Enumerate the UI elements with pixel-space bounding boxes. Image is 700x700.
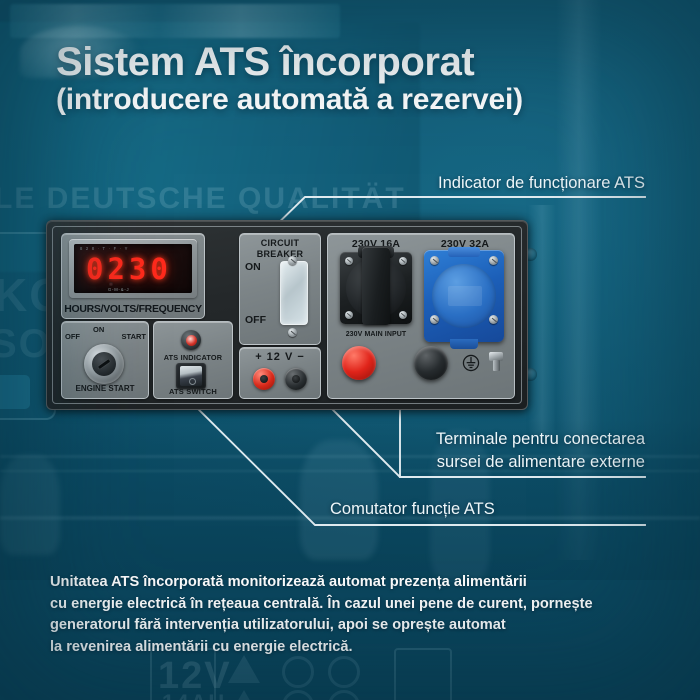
infographic-root: KONNER SOHNEN LE DEUTSCHE QUALITÄT 12V 1… [0,0,700,700]
background-vignette [0,0,700,700]
